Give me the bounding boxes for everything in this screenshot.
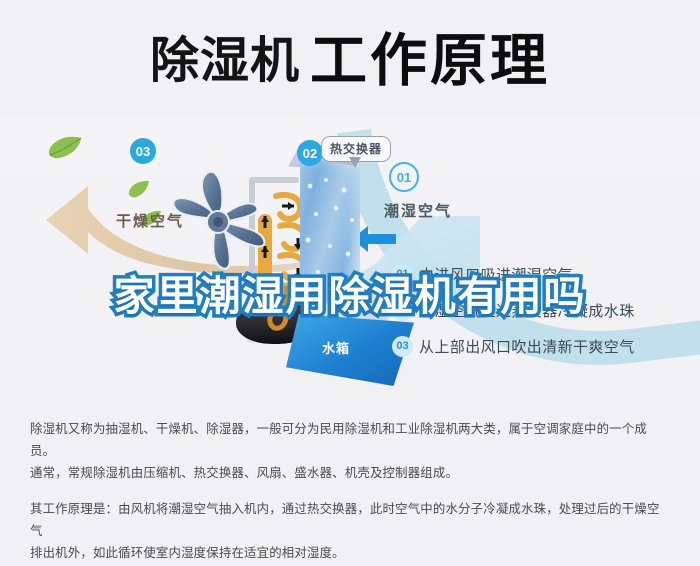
paragraph-2-line-2: 排出机外，如此循环使室内湿度保持在适宜的相对湿度。 [30, 542, 672, 564]
diagram-badge-03: 03 [130, 138, 156, 164]
diagram-badge-02: 02 [297, 140, 323, 166]
dehumidifier-infographic-page: 除湿机 工作原理 [0, 0, 700, 566]
paragraph-1-line-2: 通常，常规除湿机由压缩机、热交换器、风扇、盛水器、机壳及控制器组成。 [30, 462, 672, 484]
leaf-icon-1 [48, 136, 82, 160]
overlay-headline: 家里潮湿用除湿机有用吗 [0, 262, 700, 322]
diagram-badge-01: 01 [389, 162, 419, 192]
legend-text-03: 从上部出风口吹出清新干爽空气 [419, 336, 635, 357]
legend-item: 03 从上部出风口吹出清新干爽空气 [392, 328, 692, 364]
heat-exchanger-callout-tail [349, 157, 361, 168]
leaf-icon-2 [128, 180, 150, 198]
paragraph-1-line-1: 除湿机又称为抽湿机、干燥机、除湿器，一般可分为民用除湿机和工业除湿机两大类，属于… [30, 418, 672, 462]
dry-air-label: 干燥空气 [116, 210, 184, 231]
water-tank-label: 水箱 [322, 338, 350, 357]
body-copy: 除湿机又称为抽湿机、干燥机、除湿器，一般可分为民用除湿机和工业除湿机两大类，属于… [30, 418, 672, 564]
page-title: 除湿机 工作原理 [0, 18, 700, 104]
page-title-part2: 工作原理 [310, 33, 550, 90]
page-title-part1: 除湿机 [150, 37, 300, 86]
paragraph-2-line-1: 其工作原理是：由风机将潮湿空气抽入机内，通过热交换器，此时空气中的水分子冷凝成水… [30, 498, 672, 542]
legend-badge-03: 03 [392, 336, 413, 357]
paragraph-spacer [30, 484, 672, 498]
moist-air-label: 潮湿空气 [384, 200, 452, 221]
